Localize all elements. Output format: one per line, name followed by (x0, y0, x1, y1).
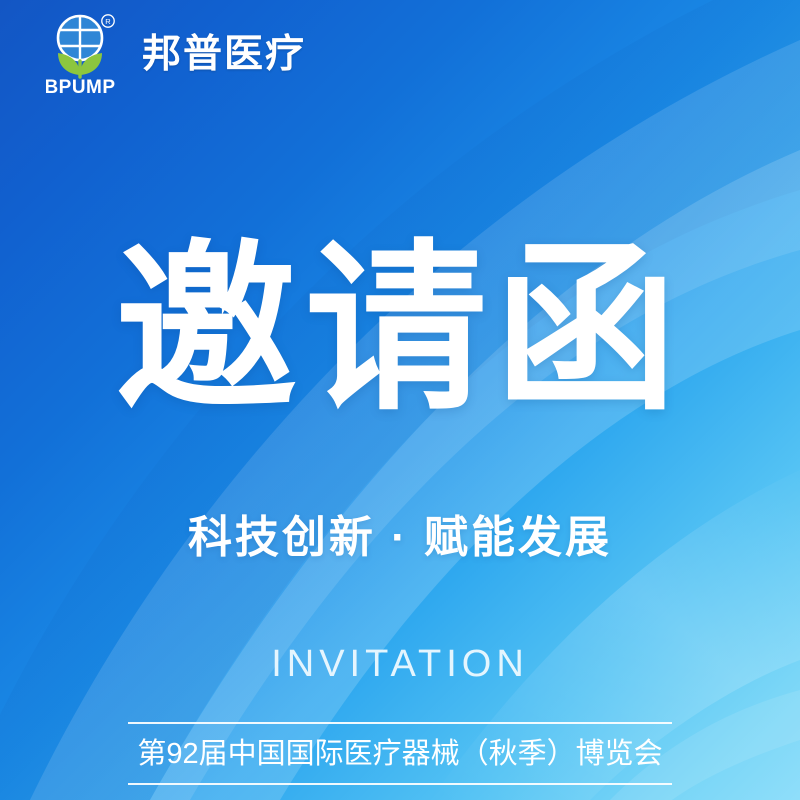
brand-header: R BPUMP 邦普医疗 (0, 0, 800, 108)
svg-text:R: R (105, 17, 111, 26)
bpump-logo-icon: R BPUMP (46, 11, 124, 97)
invitation-poster: R BPUMP 邦普医疗 邀请函 科技创新 · 赋能发展 INVITATION … (0, 0, 800, 800)
footer-rule-bottom (128, 783, 672, 785)
invitation-english-label: INVITATION (0, 645, 800, 683)
bpump-wordmark: BPUMP (46, 77, 116, 97)
event-name: 第92届中国国际医疗器械（秋季）博览会 (128, 724, 672, 783)
footer-rule-top (128, 722, 672, 724)
page-subtitle: 科技创新 · 赋能发展 (0, 512, 800, 565)
brand-name: 邦普医疗 (142, 35, 306, 74)
footer-block: 第92届中国国际医疗器械（秋季）博览会 (128, 722, 672, 785)
page-title: 邀请函 (0, 238, 800, 420)
